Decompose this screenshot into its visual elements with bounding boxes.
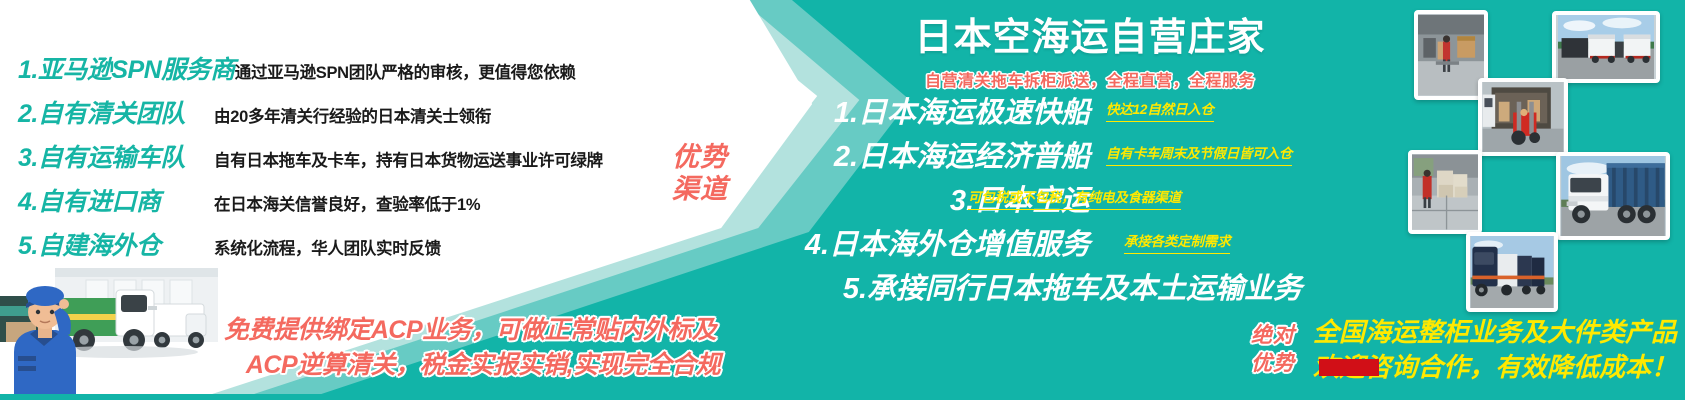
feature-description: 在日本海关信誉良好，查验率低于1% (214, 191, 480, 215)
service-row: 4.日本海外仓增值服务 承接各类定制需求 (700, 220, 1320, 264)
service-row: 1.日本海运极速快船 快达12自然日入仓 (700, 88, 1320, 132)
photo-truck-row-parking (1466, 232, 1558, 312)
bottom-accent-strip (0, 394, 1685, 400)
service-note: 快达12自然日入仓 (1106, 98, 1214, 122)
headline-block: 日本空海运自营庄家 自营清关拖车拆柜派送，全程直营，全程服务 (880, 6, 1300, 91)
service-row: 2.日本海运经济普船 自有卡车周末及节假日皆可入仓 (700, 132, 1320, 176)
service-note: 可包税或不包税，有纯电及食器渠道 (968, 186, 1181, 210)
photo-forklift-loading-truck (1478, 78, 1568, 156)
service-title: 1.日本海运极速快船 (834, 89, 1090, 131)
service-title: 2.日本海运经济普船 (834, 133, 1090, 175)
service-title: 5.承接同行日本拖车及本土运输业务 (843, 265, 1302, 307)
feature-title: 3.自有运输车队 (18, 138, 214, 174)
bottom-right-line-2: 欢迎咨询合作，有效降低成本！ (1313, 350, 1677, 384)
bottom-right-lines: 全国海运整柜业务及大件类产品 欢迎咨询合作，有效降低成本！ (1313, 315, 1677, 384)
advantage-badge-line-1: 优势 (672, 142, 728, 174)
list-item: 5.自建海外仓 系统化流程，华人团队实时反馈 (18, 226, 698, 270)
feature-description: 自有日本拖车及卡车，持有日本货物运送事业许可绿牌 (214, 147, 603, 171)
list-item: 4.自有进口商 在日本海关信誉良好，查验率低于1% (18, 182, 698, 226)
promo-line-1: 免费提供绑定ACP业务，可做正常贴内外标及 (190, 313, 750, 348)
promotional-banner: 1.亚马逊SPN服务商 通过亚马逊SPN团队严格的审核，更值得您依赖 2.自有清… (0, 0, 1685, 400)
photo-container-tractor-truck (1556, 152, 1670, 240)
bottom-left-promo-text: 免费提供绑定ACP业务，可做正常贴内外标及 ACP逆算清关，税金实报实销,实现完… (190, 313, 750, 382)
worker-and-trucks-illustration (0, 260, 218, 400)
feature-description: 由20多年清关行经验的日本清关士领衔 (214, 103, 491, 127)
photo-warehouse-cargo-stacks (1408, 150, 1482, 234)
page-title: 日本空海运自营庄家 (880, 6, 1300, 61)
service-row: 5.承接同行日本拖车及本土运输业务 (700, 264, 1320, 308)
list-item: 2.自有清关团队 由20多年清关行经验的日本清关士领衔 (18, 94, 698, 138)
redaction-bar (1319, 359, 1379, 376)
service-note: 自有卡车周末及节假日皆可入仓 (1106, 142, 1292, 166)
feature-title: 4.自有进口商 (18, 182, 214, 218)
list-item: 3.自有运输车队 自有日本拖车及卡车，持有日本货物运送事业许可绿牌 (18, 138, 698, 182)
promo-line-2: ACP逆算清关，税金实报实销,实现完全合规 (190, 348, 750, 383)
feature-title: 1.亚马逊SPN服务商 (18, 50, 235, 86)
feature-description: 通过亚马逊SPN团队严格的审核，更值得您依赖 (235, 59, 576, 83)
absolute-advantage-line-2: 优势 (1251, 350, 1295, 377)
service-list: 1.日本海运极速快船 快达12自然日入仓 2.日本海运经济普船 自有卡车周末及节… (700, 88, 1320, 308)
advantage-badge-line-2: 渠道 (672, 174, 728, 206)
bottom-right-line-1: 全国海运整柜业务及大件类产品 (1313, 315, 1677, 349)
feature-title: 2.自有清关团队 (18, 94, 214, 130)
service-title: 4.日本海外仓增值服务 (805, 221, 1090, 263)
photo-warehouse-worker-pallet (1414, 10, 1488, 100)
photo-box-trucks-fleet (1552, 11, 1660, 83)
feature-description: 系统化流程，华人团队实时反馈 (214, 235, 441, 259)
left-feature-list: 1.亚马逊SPN服务商 通过亚马逊SPN团队严格的审核，更值得您依赖 2.自有清… (18, 50, 698, 270)
list-item: 1.亚马逊SPN服务商 通过亚马逊SPN团队严格的审核，更值得您依赖 (18, 50, 698, 94)
service-note: 承接各类定制需求 (1124, 230, 1230, 254)
feature-title: 5.自建海外仓 (18, 226, 214, 262)
absolute-advantage-badge: 绝对 优势 (1251, 322, 1295, 377)
service-row: 3.日本空运 可包税或不包税，有纯电及食器渠道 (700, 176, 1320, 220)
absolute-advantage-line-1: 绝对 (1251, 322, 1295, 349)
advantage-channel-badge: 优势 渠道 (672, 142, 728, 206)
bottom-right-promo-block: 绝对 优势 全国海运整柜业务及大件类产品 欢迎咨询合作，有效降低成本！ (1251, 315, 1677, 384)
